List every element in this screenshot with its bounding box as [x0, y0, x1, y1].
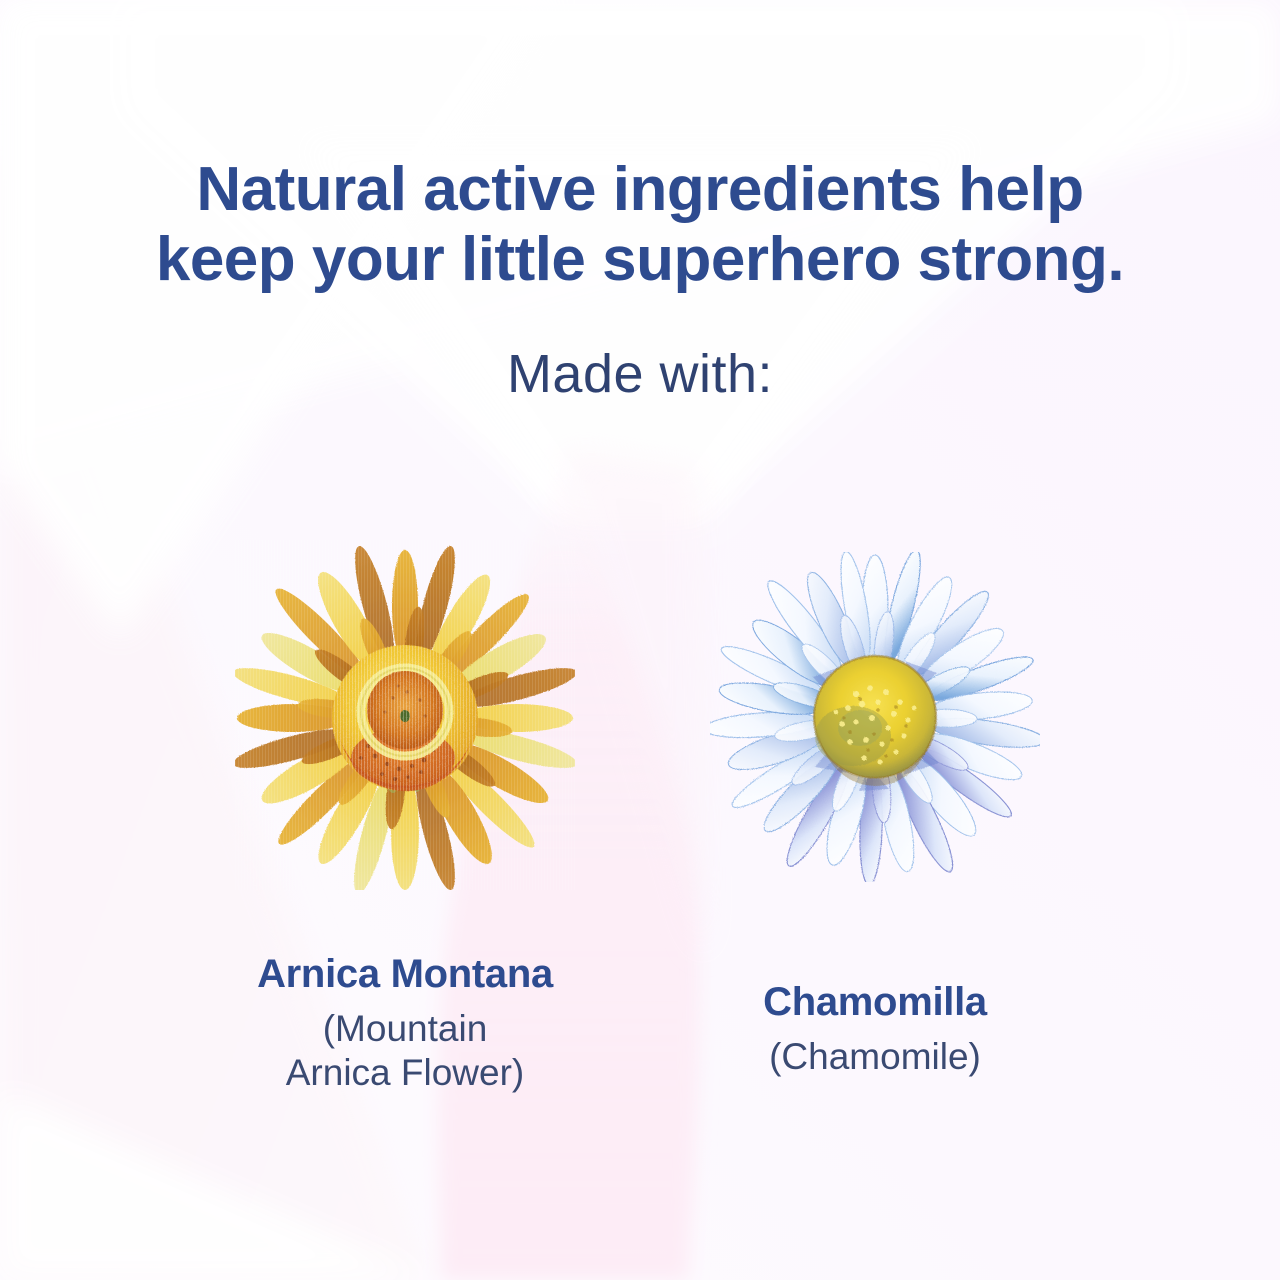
promo-panel: Natural active ingredients help keep you…: [0, 0, 1280, 1280]
ingredient-common-name-arnica: (Mountain Arnica Flower): [286, 1007, 525, 1094]
chamomile-flower-illustration: [710, 552, 1040, 882]
arnica-common-line-2: Arnica Flower): [286, 1051, 525, 1095]
ingredient-name-chamomilla: Chamomilla: [763, 980, 987, 1025]
arnica-common-line-1: (Mountain: [286, 1007, 525, 1051]
headline-line-2: keep your little superhero strong.: [95, 225, 1185, 295]
chamomilla-common-line-1: (Chamomile): [769, 1035, 981, 1079]
headline-line-1: Natural active ingredients help: [95, 155, 1185, 225]
ingredients-row: Arnica Montana (Mountain Arnica Flower): [0, 540, 1280, 1094]
page-title: Natural active ingredients help keep you…: [95, 155, 1185, 295]
arnica-flower-illustration: [235, 540, 575, 890]
ingredient-name-arnica: Arnica Montana: [257, 952, 553, 997]
ingredient-common-name-chamomilla: (Chamomile): [769, 1035, 981, 1079]
ingredient-arnica: Arnica Montana (Mountain Arnica Flower): [170, 540, 640, 1094]
ingredient-chamomilla: Chamomilla (Chamomile): [640, 540, 1110, 1079]
made-with-label: Made with:: [507, 343, 773, 405]
